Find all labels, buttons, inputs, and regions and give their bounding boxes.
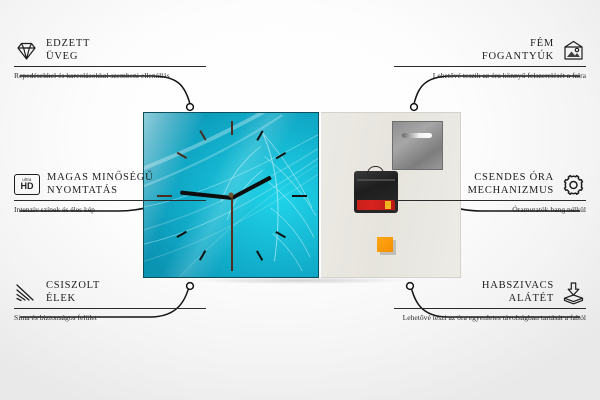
clock-mechanism-box (354, 171, 398, 213)
tick-3 (292, 195, 307, 197)
feature-edges: CSISZOLT ÉLEK Sima és biztonságos felüle… (14, 280, 206, 323)
feature-handles-description: Lehetővé teszik az óra könnyű felszerelé… (394, 71, 586, 81)
ultra-hd-icon: ultra HD (14, 174, 40, 195)
mechanism-sticker (357, 200, 395, 210)
feature-foam-title: HABSZIVACS ALÁTÉT (482, 280, 554, 305)
hanger-slot (402, 133, 432, 138)
feature-divider (14, 308, 206, 309)
diamond-icon (14, 39, 39, 63)
badge-hd-text: HD (21, 182, 34, 191)
feature-edges-head: CSISZOLT ÉLEK (14, 280, 206, 305)
foam-pad (377, 237, 393, 252)
feature-divider (14, 66, 206, 67)
polished-edge-icon (14, 281, 39, 305)
mechanism-loop (367, 166, 384, 174)
feature-glass-title: EDZETT ÜVEG (46, 38, 90, 63)
feature-foam-description: Lehetővé teszi az óra egyenletes távolsá… (394, 313, 586, 323)
feature-mechanism-head: CSENDES ÓRA MECHANIZMUS (394, 172, 586, 197)
feature-divider (14, 200, 206, 201)
feature-mechanism-title: CSENDES ÓRA MECHANIZMUS (468, 172, 554, 197)
feature-mechanism: CSENDES ÓRA MECHANIZMUS Óramutatók hang … (394, 172, 586, 215)
foam-pad-arrow-icon (561, 281, 586, 305)
feature-glass-description: Repedésekkel és karcolásokkal szembeni e… (14, 71, 206, 81)
picture-hanger-icon (561, 39, 586, 63)
second-hand (231, 196, 232, 258)
feature-glass-head: EDZETT ÜVEG (14, 38, 206, 63)
feature-print-head: ultra HD MAGAS MINŐSÉGŰ NYOMTATÁS (14, 172, 206, 197)
feature-print-description: Intenzív színek és éles kép (14, 205, 206, 215)
feature-mechanism-description: Óramutatók hang nélkül (394, 205, 586, 215)
feature-edges-description: Sima és biztonságos felület (14, 313, 206, 323)
feature-foam: HABSZIVACS ALÁTÉT Lehetővé teszi az óra … (394, 280, 586, 323)
gear-icon (561, 173, 586, 197)
feature-divider (394, 308, 586, 309)
feature-foam-head: HABSZIVACS ALÁTÉT (394, 280, 586, 305)
feature-print-title: MAGAS MINŐSÉGŰ NYOMTATÁS (47, 172, 153, 197)
feature-divider (394, 66, 586, 67)
feature-edges-title: CSISZOLT ÉLEK (46, 280, 100, 305)
feature-handles: FÉM FOGANTYÚK Lehetővé teszik az óra kön… (394, 38, 586, 81)
tick-12 (231, 121, 233, 135)
tick-6 (231, 257, 233, 271)
feature-divider (394, 200, 586, 201)
mechanism-stripe (357, 179, 395, 181)
feature-handles-title: FÉM FOGANTYÚK (482, 38, 554, 63)
endpoint-handles (411, 104, 418, 111)
infographic-stage: EDZETT ÜVEG Repedésekkel és karcolásokka… (0, 0, 600, 400)
feature-print: ultra HD MAGAS MINŐSÉGŰ NYOMTATÁS Intenz… (14, 172, 206, 215)
feature-handles-head: FÉM FOGANTYÚK (394, 38, 586, 63)
feature-glass: EDZETT ÜVEG Repedésekkel és karcolásokka… (14, 38, 206, 81)
metal-hanger-plate (392, 121, 443, 170)
endpoint-glass (187, 104, 194, 111)
clock-pivot (229, 193, 234, 198)
